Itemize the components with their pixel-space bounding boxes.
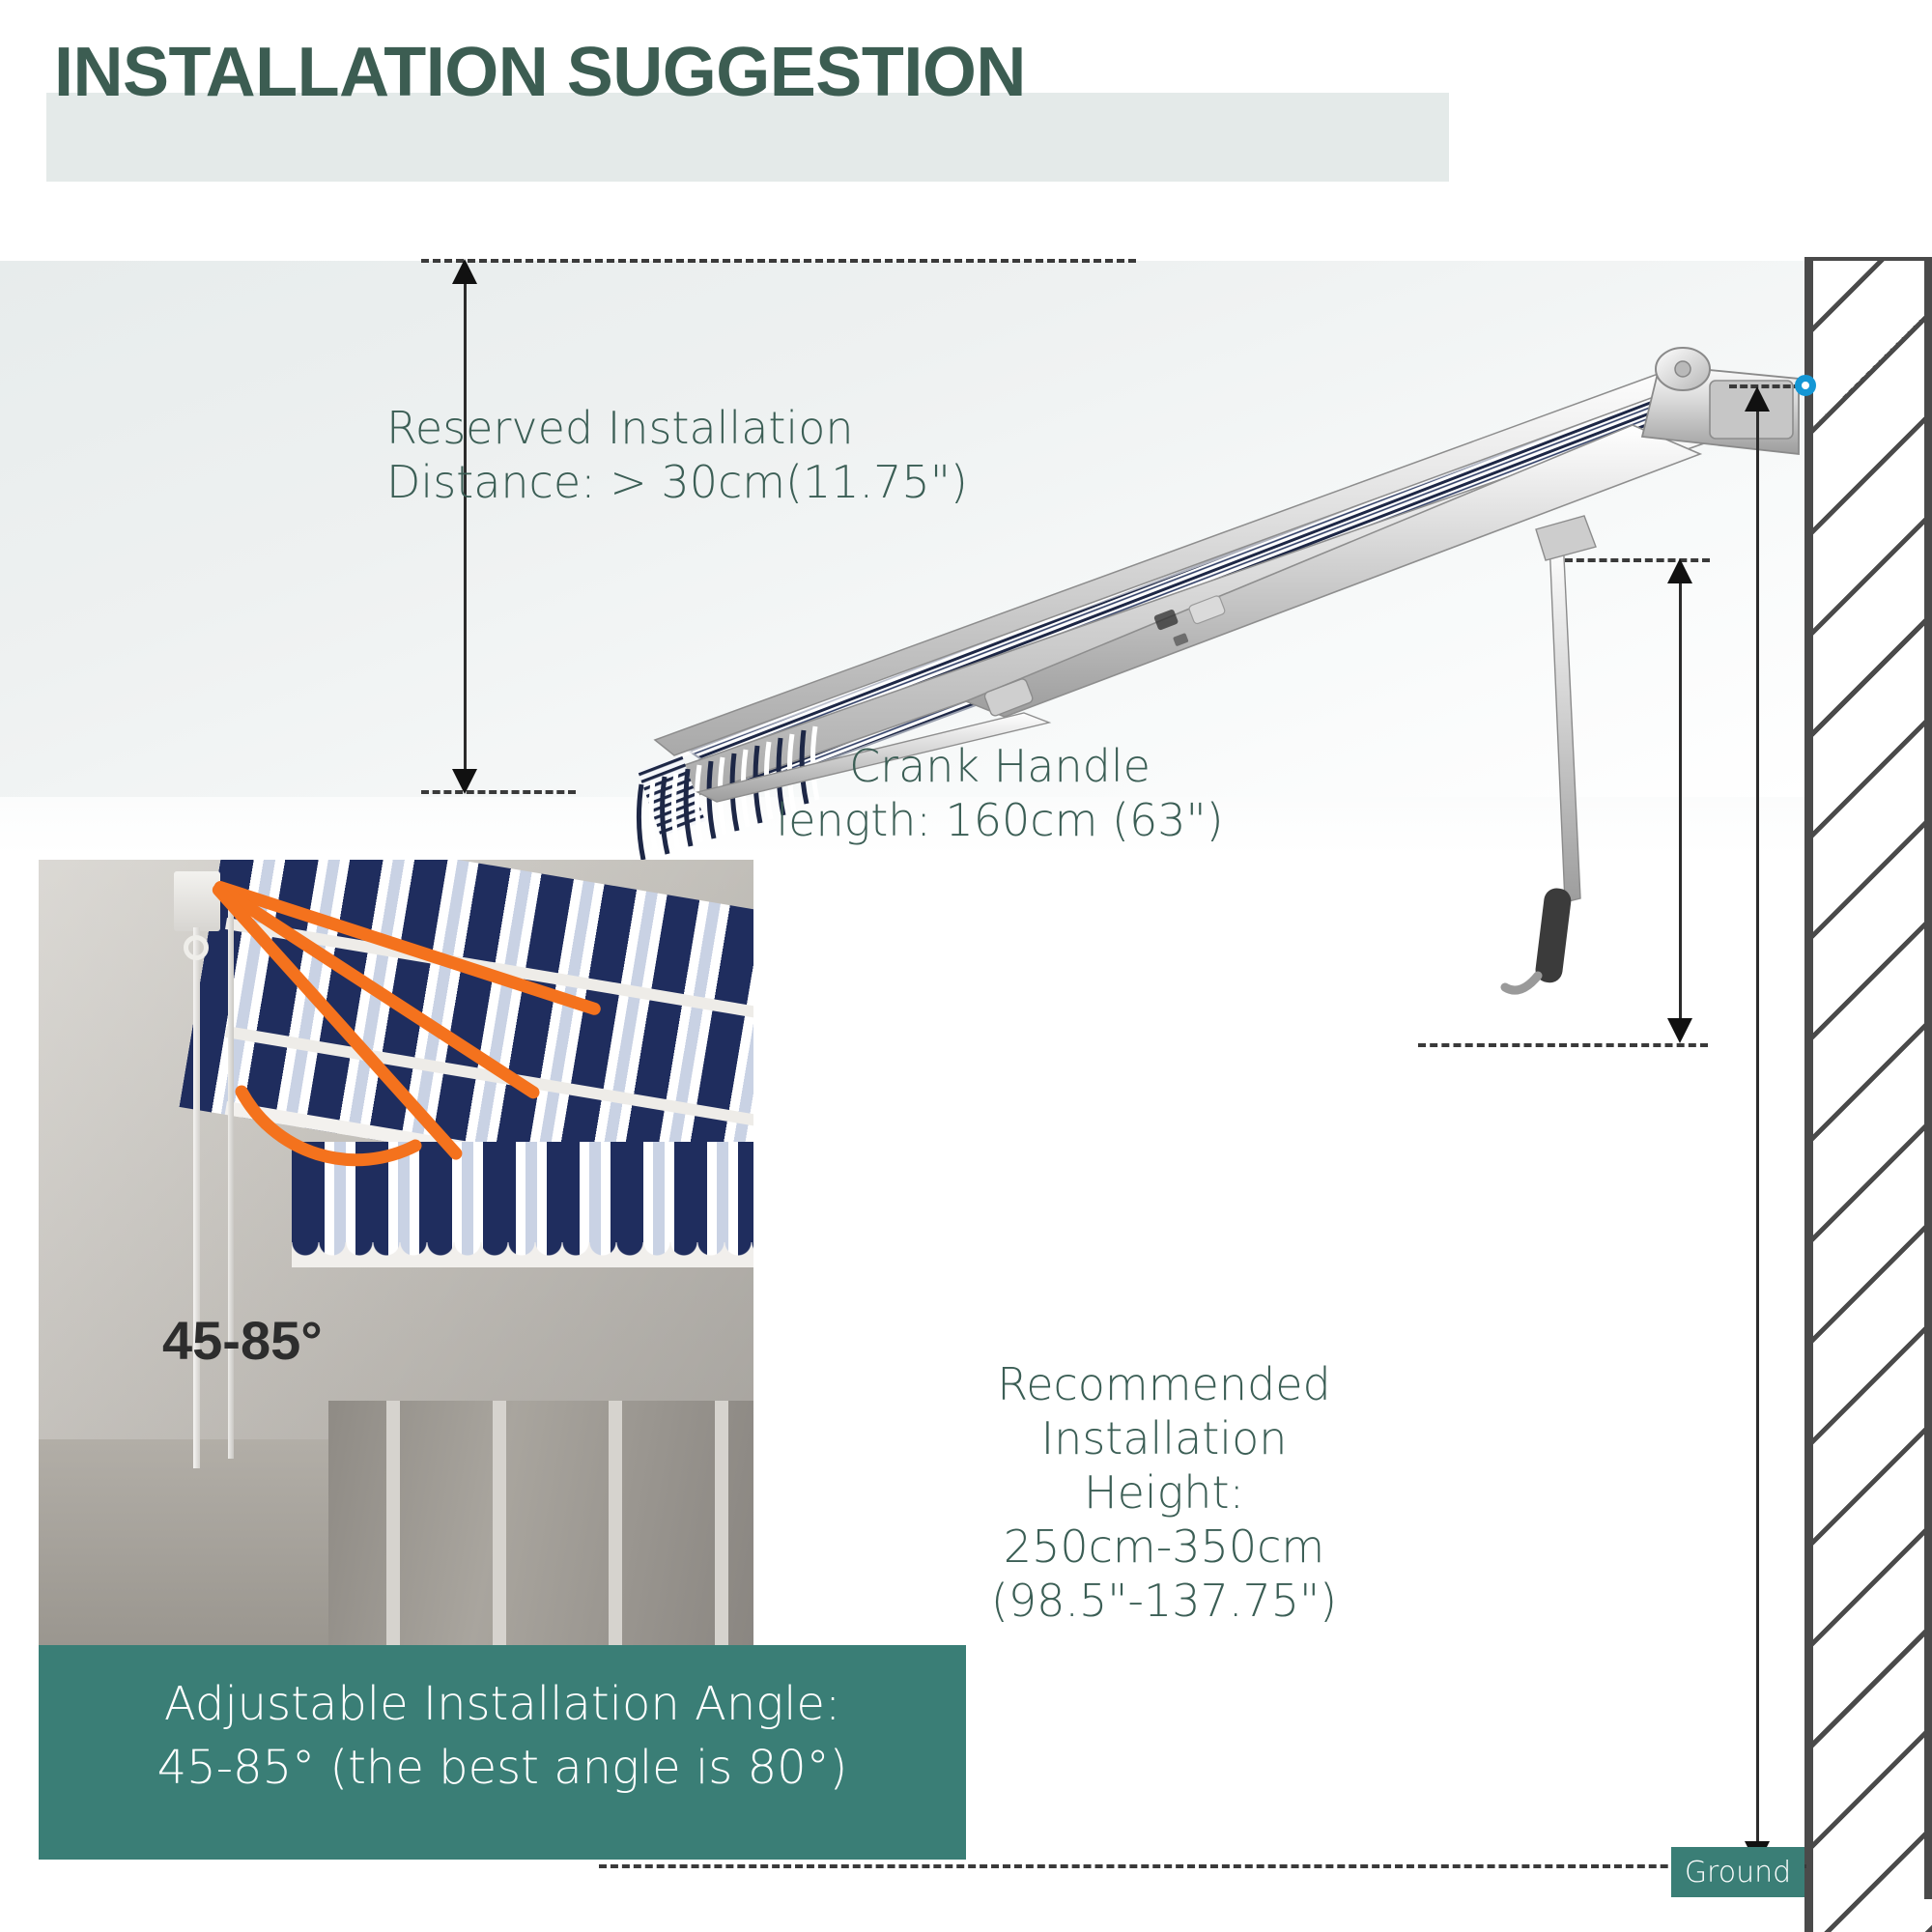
door-mullion	[493, 1401, 506, 1647]
photo-rod-eyelet	[184, 935, 209, 960]
guide-top-dashed	[421, 259, 1136, 263]
caption-line1: Adjustable Installation Angle:	[39, 1672, 966, 1736]
guide-crank-bottom-dashed	[1418, 1043, 1708, 1047]
reserved-distance-line	[464, 266, 467, 787]
installation-angle-photo	[39, 860, 753, 1647]
wall-right-edge	[1924, 257, 1932, 1899]
crank-handle-hook	[1505, 976, 1538, 990]
arrow-up-icon-crank	[1667, 558, 1692, 583]
crank-handle-line1: Crank Handle	[773, 739, 1227, 793]
crank-handle-grip	[1534, 887, 1573, 984]
arrow-up-icon	[452, 259, 477, 284]
crank-length-line	[1679, 565, 1682, 1037]
caption-line2: 45-85° (the best angle is 80°)	[39, 1736, 966, 1800]
installation-height-line	[1756, 391, 1759, 1860]
guide-ground-dashed	[599, 1864, 1806, 1868]
photo-wall-bracket	[174, 871, 220, 931]
arrow-up-icon-height	[1745, 386, 1770, 412]
callout-crank-handle: Crank Handle length: 160cm (63")	[773, 739, 1227, 847]
ground-badge: Ground	[1671, 1847, 1804, 1897]
guide-reserved-bottom-dashed	[421, 790, 576, 794]
callout-reserved-distance: Reserved Installation Distance: > 30cm(1…	[386, 401, 985, 509]
installation-angle-caption: Adjustable Installation Angle: 45-85° (t…	[39, 1645, 966, 1860]
door-mullion	[386, 1401, 400, 1647]
angle-indicator-arc	[174, 1053, 444, 1323]
arrow-down-icon	[452, 769, 477, 794]
installation-height-line1: Recommended	[966, 1357, 1362, 1411]
blue-pivot-dot-icon	[1795, 375, 1816, 396]
callout-installation-height: Recommended Installation Height: 250cm-3…	[966, 1357, 1362, 1629]
installation-height-line4: (98.5"-137.75")	[966, 1574, 1362, 1628]
photo-glass-door	[328, 1401, 753, 1647]
door-mullion	[609, 1401, 622, 1647]
angle-range-label: 45-85°	[162, 1309, 323, 1372]
arrow-down-icon-crank	[1667, 1018, 1692, 1043]
door-mullion	[715, 1401, 728, 1647]
infographic-canvas: INSTALLATION SUGGESTION	[0, 0, 1932, 1932]
reserved-distance-line1: Reserved Installation	[386, 401, 985, 455]
crank-handle-line2: length: 160cm (63")	[773, 793, 1227, 847]
reserved-distance-line2: Distance: > 30cm(11.75")	[386, 455, 985, 509]
installation-height-line3: 250cm-350cm	[966, 1520, 1362, 1574]
awning-scene-background	[0, 261, 1804, 797]
installation-height-line2: Installation Height:	[966, 1411, 1362, 1520]
page-title: INSTALLATION SUGGESTION	[54, 33, 1026, 112]
wall-hatched	[1804, 261, 1932, 1932]
